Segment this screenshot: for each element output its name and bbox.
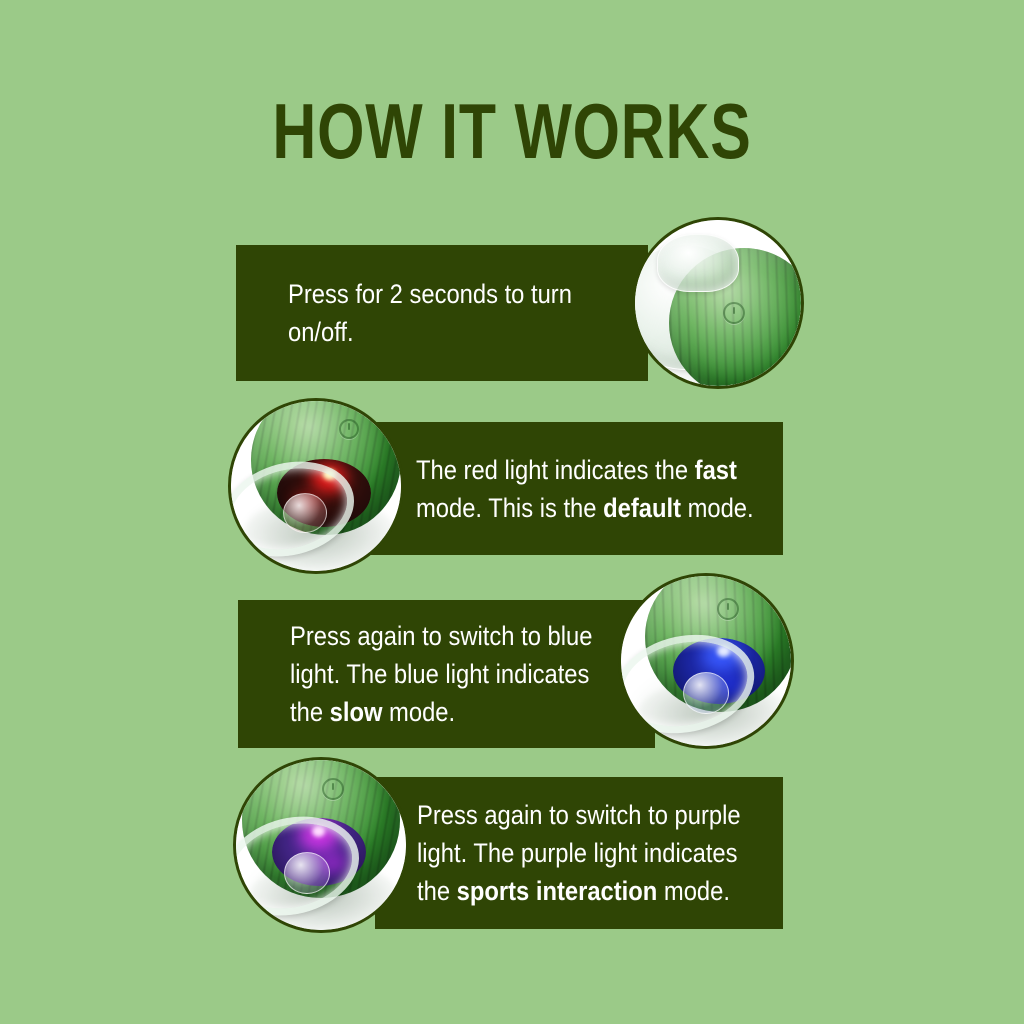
step-text-line: Press for 2 seconds to turn	[288, 275, 572, 313]
photo-stage	[621, 576, 791, 746]
step-text-line: Press again to switch to blue	[290, 617, 592, 655]
power-symbol-icon	[339, 419, 359, 439]
step-text-line: The red light indicates the fast	[416, 451, 754, 489]
power-symbol-icon	[322, 778, 344, 800]
page-title: HOW IT WORKS	[113, 92, 912, 170]
infographic-poster: HOW IT WORKS Press for 2 seconds to turn…	[0, 0, 1024, 1024]
clear-bubble	[683, 672, 729, 714]
step-text-line: on/off.	[288, 313, 572, 351]
product-photo-purple	[233, 757, 409, 933]
step-panel-blue: Press again to switch to blue light. The…	[238, 600, 655, 748]
step-text-red: The red light indicates the fast mode. T…	[416, 451, 754, 527]
step-text-power: Press for 2 seconds to turn on/off.	[288, 275, 572, 351]
step-text-line: light. The blue light indicates	[290, 655, 592, 693]
photo-stage	[231, 401, 401, 571]
step-text-line: the sports interaction mode.	[417, 872, 741, 910]
photo-stage	[635, 220, 801, 386]
clear-bubble	[283, 493, 327, 533]
step-panel-power: Press for 2 seconds to turn on/off.	[236, 245, 648, 381]
product-photo-power	[632, 217, 804, 389]
step-panel-purple: Press again to switch to purple light. T…	[375, 777, 783, 929]
step-text-line: Press again to switch to purple	[417, 796, 741, 834]
product-photo-blue	[618, 573, 794, 749]
power-symbol-icon	[723, 302, 745, 324]
power-symbol-icon	[717, 598, 739, 620]
step-text-line: mode. This is the default mode.	[416, 489, 754, 527]
step-text-purple: Press again to switch to purple light. T…	[417, 796, 741, 910]
photo-stage	[236, 760, 406, 930]
step-text-blue: Press again to switch to blue light. The…	[290, 617, 592, 731]
clear-bubble	[284, 852, 330, 894]
step-text-line: light. The purple light indicates	[417, 834, 741, 872]
product-photo-red	[228, 398, 404, 574]
step-text-line: the slow mode.	[290, 693, 592, 731]
step-panel-red: The red light indicates the fast mode. T…	[348, 422, 783, 555]
clear-lid	[657, 234, 739, 292]
